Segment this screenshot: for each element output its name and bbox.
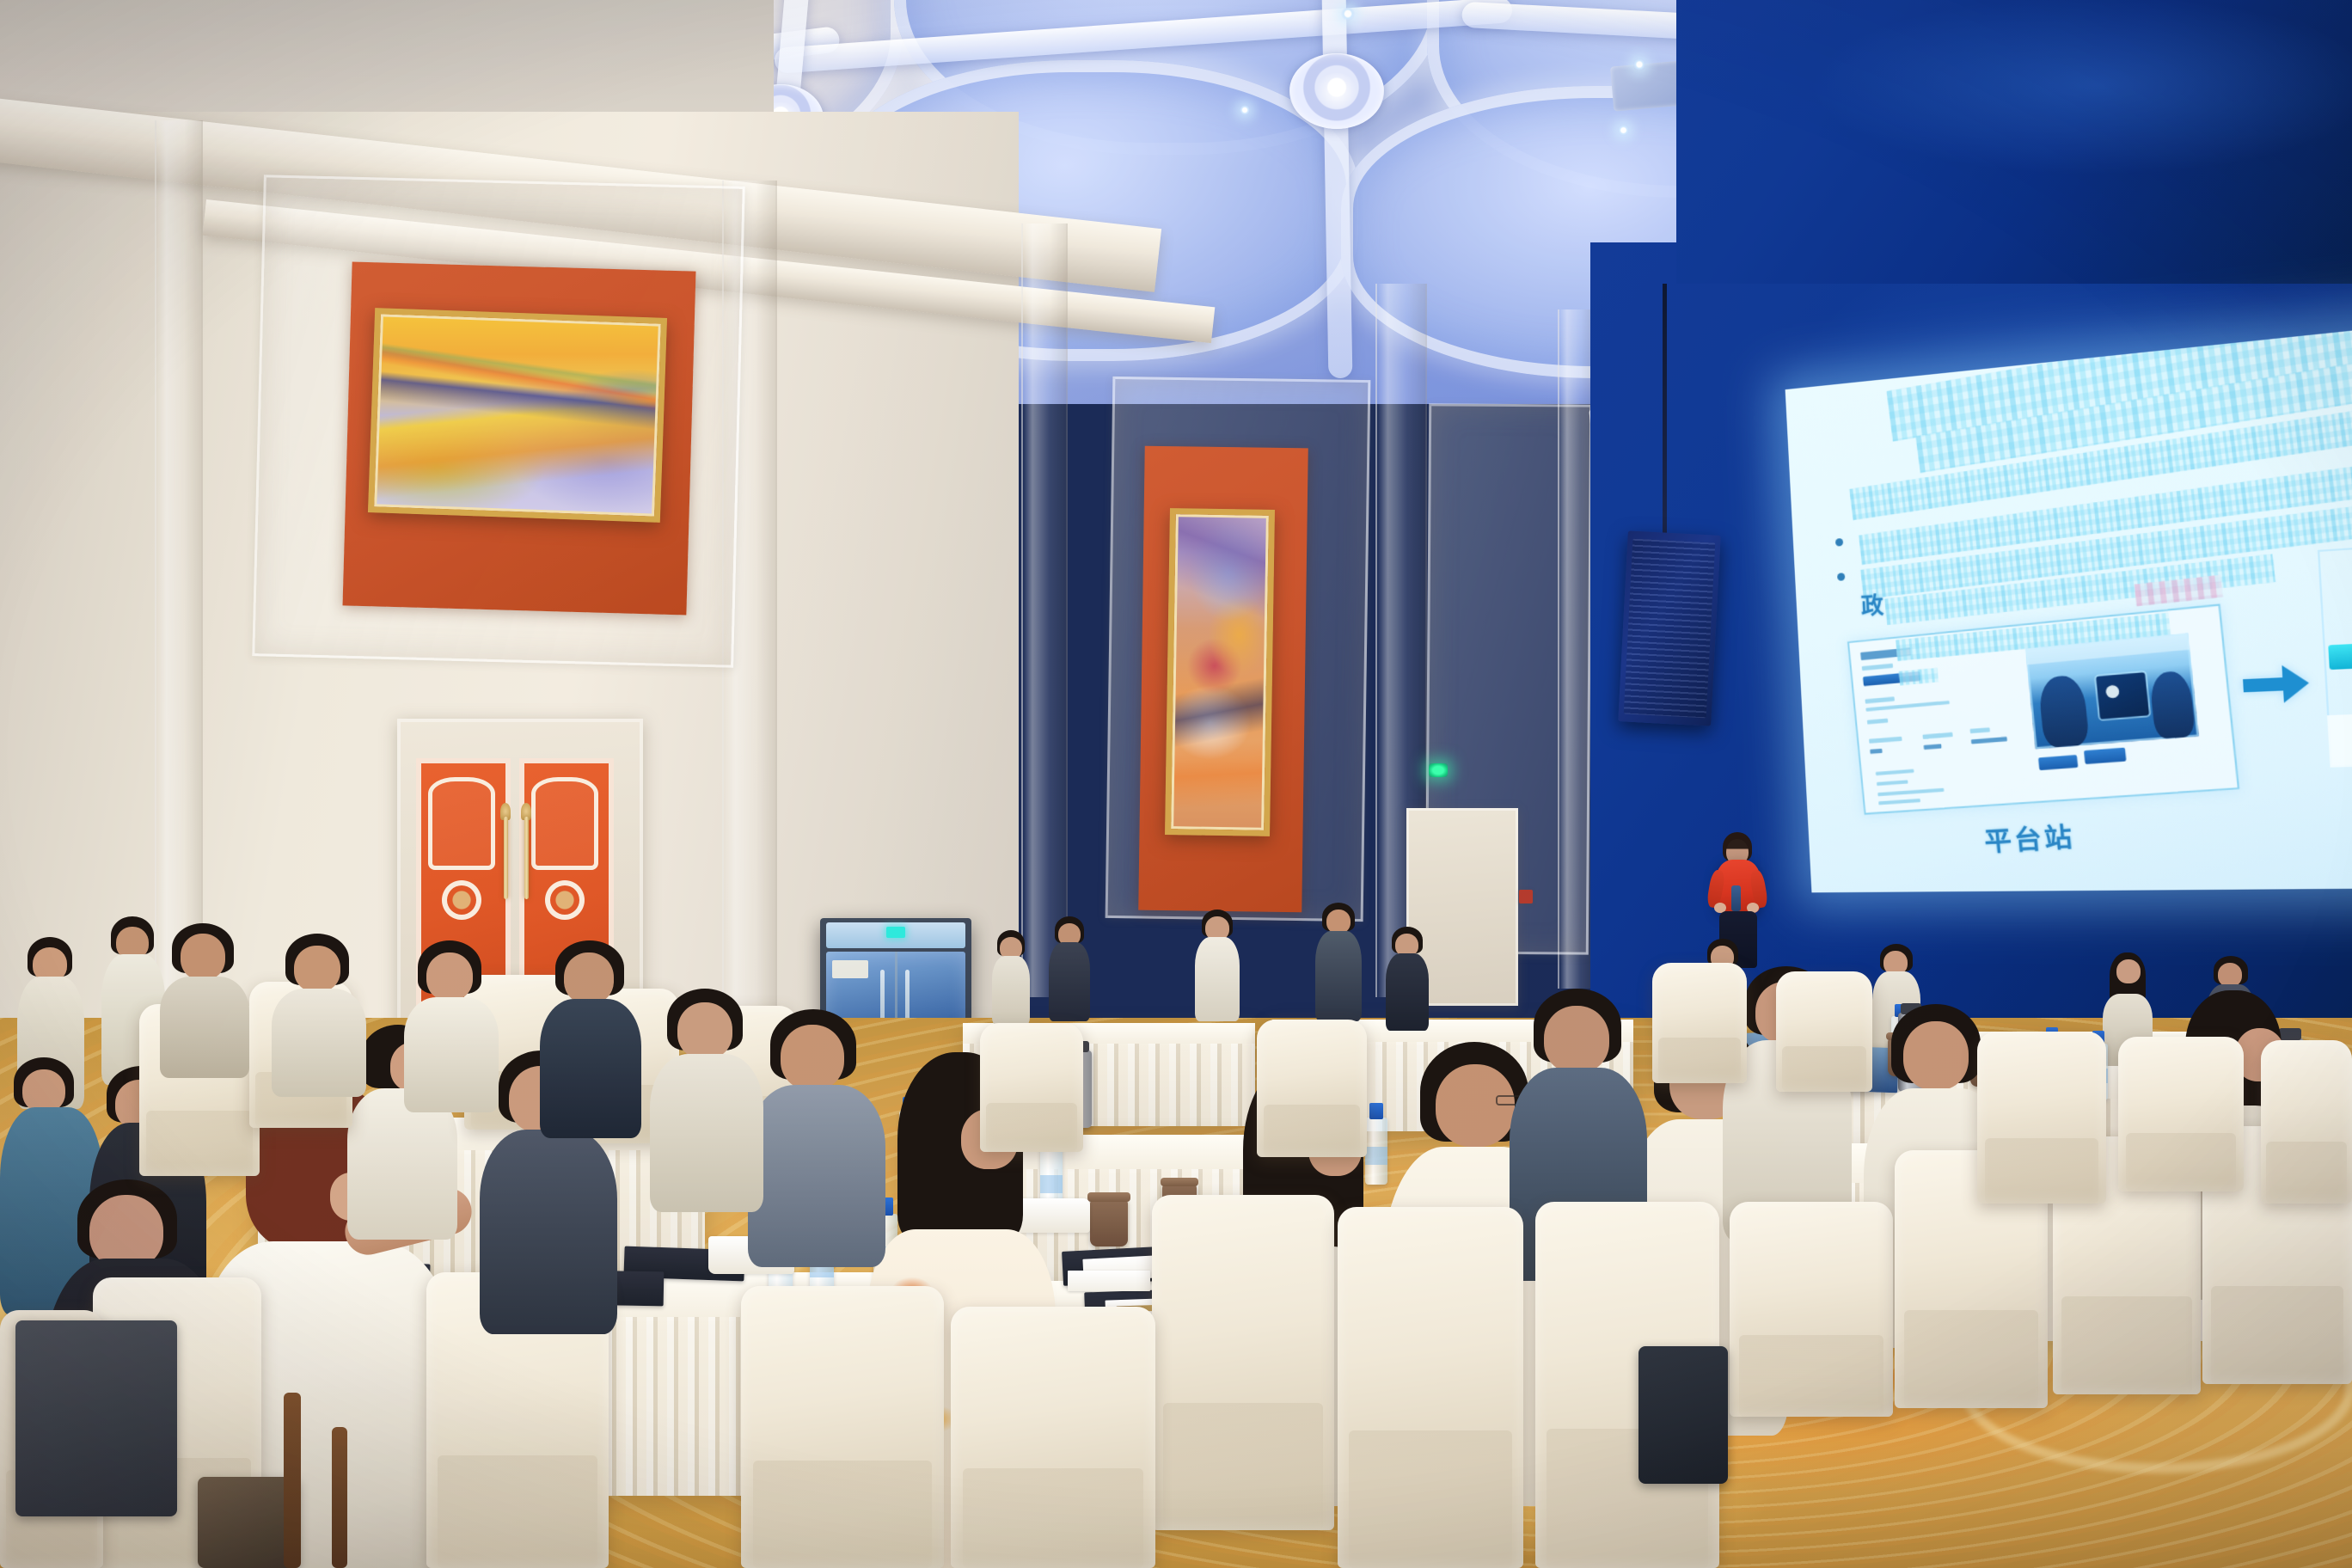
- slide-platform-label: 平台站: [1982, 815, 2076, 860]
- door-handle[interactable]: [524, 817, 529, 899]
- banquet-chair: [741, 1286, 944, 1568]
- banquet-chair: [1977, 1032, 2106, 1204]
- stage-backdrop-upper: [1676, 0, 2352, 284]
- audience-member: [404, 940, 499, 1112]
- flow-arrow-icon: [2242, 665, 2310, 705]
- audience-member: [748, 1009, 885, 1267]
- line-array-speaker: [1618, 530, 1720, 726]
- ceiling-downlight: [1240, 105, 1250, 115]
- app-bottom-bar: [2327, 710, 2352, 768]
- card-button-primary[interactable]: [2038, 755, 2078, 770]
- audience-member: [1386, 927, 1429, 1030]
- slide-screenshot-card: [1847, 603, 2239, 814]
- wall-pilaster: [155, 120, 203, 1032]
- ceiling-downlight: [1633, 58, 1645, 70]
- audience-member: [272, 934, 366, 1097]
- banquet-chair: [951, 1307, 1155, 1568]
- banquet-chair: [1257, 1020, 1367, 1157]
- wall-pilaster: [1021, 224, 1068, 997]
- chair-wood-trim: [332, 1427, 347, 1568]
- banquet-chair: [2261, 1040, 2352, 1204]
- audience-member: [1049, 916, 1090, 1021]
- slide-bullet-marker: [1837, 573, 1845, 581]
- banquet-chair: [980, 1023, 1083, 1152]
- banquet-chair: [1152, 1195, 1334, 1530]
- banquet-chair: [2118, 1037, 2244, 1191]
- card-text-censored: [1899, 668, 1939, 685]
- audience-member: [1315, 903, 1362, 1021]
- mobile-app-screenshot: [2318, 542, 2352, 768]
- speaker-grille: [1624, 539, 1715, 719]
- ceiling-rosette: [1289, 53, 1384, 129]
- banquet-chair: [1338, 1207, 1523, 1568]
- artwork-abstract-landscape: [368, 308, 667, 523]
- audience-member: [650, 989, 763, 1212]
- fire-alarm-point: [1519, 890, 1533, 903]
- banquet-chair: [1730, 1202, 1893, 1417]
- tote-bag: [1638, 1346, 1728, 1484]
- slide-partial-character: 政: [1860, 587, 1887, 621]
- banquet-chair: [1776, 971, 1872, 1092]
- backpack: [15, 1320, 177, 1516]
- thumbnail-monitor: [2096, 672, 2149, 720]
- tea-cup: [1090, 1200, 1128, 1246]
- fridge-label-sticker: [832, 960, 868, 978]
- audience-member: [160, 923, 249, 1078]
- artwork-abstract-vertical: [1165, 508, 1275, 836]
- slide-bullet-marker: [1835, 538, 1843, 547]
- speaker-suspension-cable: [1663, 284, 1667, 542]
- projection-screen: 政: [1785, 326, 2352, 892]
- audience-member: [992, 930, 1030, 1025]
- card-video-thumbnail[interactable]: [2025, 633, 2199, 749]
- audience-member: [540, 940, 641, 1138]
- ceiling-downlight: [1341, 7, 1355, 21]
- card-button-secondary[interactable]: [2084, 747, 2126, 763]
- app-tag: [2328, 644, 2352, 671]
- door-handle[interactable]: [504, 817, 508, 899]
- emergency-exit-icon: [1429, 763, 1448, 777]
- conference-hall-photo: 政: [0, 0, 2352, 1568]
- audience-member: [1195, 910, 1240, 1021]
- note-paper: [1068, 1271, 1150, 1291]
- fridge-indicator-light: [886, 927, 905, 938]
- chair-wood-trim: [284, 1393, 301, 1568]
- handheld-microphone: [1731, 885, 1741, 911]
- ceiling-downlight: [1618, 125, 1629, 136]
- banquet-chair: [1652, 963, 1747, 1083]
